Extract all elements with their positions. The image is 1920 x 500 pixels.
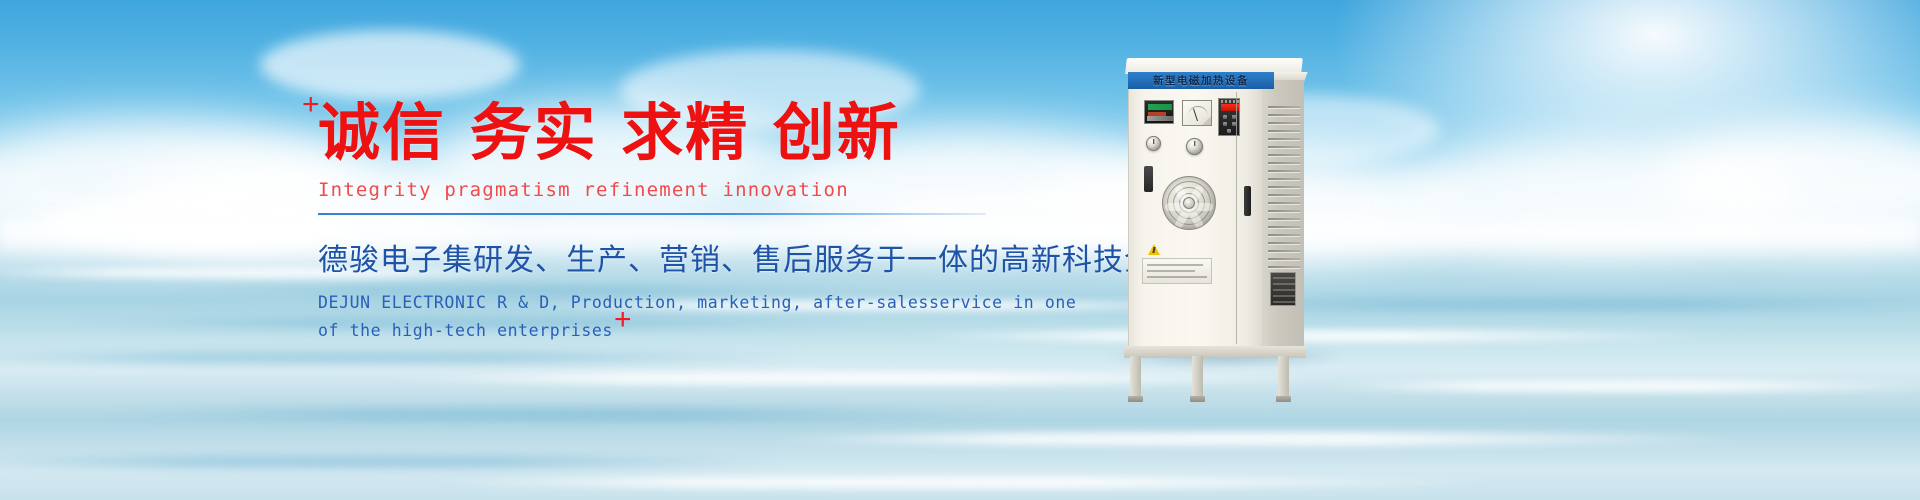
cloud — [260, 30, 520, 100]
sea-streak — [1320, 380, 1920, 392]
sea-streak — [380, 372, 1360, 385]
page-subtitle-en: Integrity pragmatism refinement innovati… — [318, 179, 1038, 201]
divider — [318, 213, 986, 215]
plus-decoration-icon: + — [302, 90, 320, 120]
tagline-en-line1: DEJUN ELECTRONIC R & D, Production, mark… — [318, 289, 1038, 317]
cabinet-leg — [1192, 356, 1203, 398]
door-handle[interactable] — [1244, 186, 1251, 216]
sea-streak — [100, 408, 1000, 420]
banner-copy: 诚信 务实 求精 创新 Integrity pragmatism refinem… — [318, 96, 1038, 345]
product-machine: 新型电磁加热设备 — [1118, 58, 1318, 358]
hero-banner: + + 诚信 务实 求精 创新 Integrity pragmatism ref… — [0, 0, 1920, 500]
product-label-text: 新型电磁加热设备 — [1153, 73, 1249, 88]
product-label: 新型电磁加热设备 — [1128, 72, 1274, 89]
page-title: 诚信 务实 求精 创新 — [318, 96, 1038, 169]
temperature-controller[interactable] — [1144, 100, 1174, 124]
side-vent — [1270, 272, 1296, 306]
cooling-fan — [1162, 176, 1216, 230]
adjust-knob[interactable] — [1186, 138, 1203, 155]
selector-knob[interactable] — [1146, 136, 1161, 151]
indicator-slot — [1144, 166, 1153, 192]
sea-streak — [760, 432, 1760, 446]
leg-foot — [1128, 396, 1143, 402]
high-voltage-warning-icon — [1148, 244, 1160, 255]
tagline-en-line2: of the high-tech enterprises — [318, 317, 1038, 345]
spec-plate — [1142, 258, 1212, 284]
leg-foot — [1276, 396, 1291, 402]
cabinet-leg — [1130, 356, 1141, 398]
door-seam — [1236, 92, 1237, 344]
leg-foot — [1190, 396, 1205, 402]
tagline-cn: 德骏电子集研发、生产、营销、售后服务于一体的高新科技企业 — [318, 235, 1038, 279]
cabinet-leg — [1278, 356, 1289, 398]
ammeter — [1182, 100, 1212, 126]
sea-streak — [420, 476, 1520, 489]
